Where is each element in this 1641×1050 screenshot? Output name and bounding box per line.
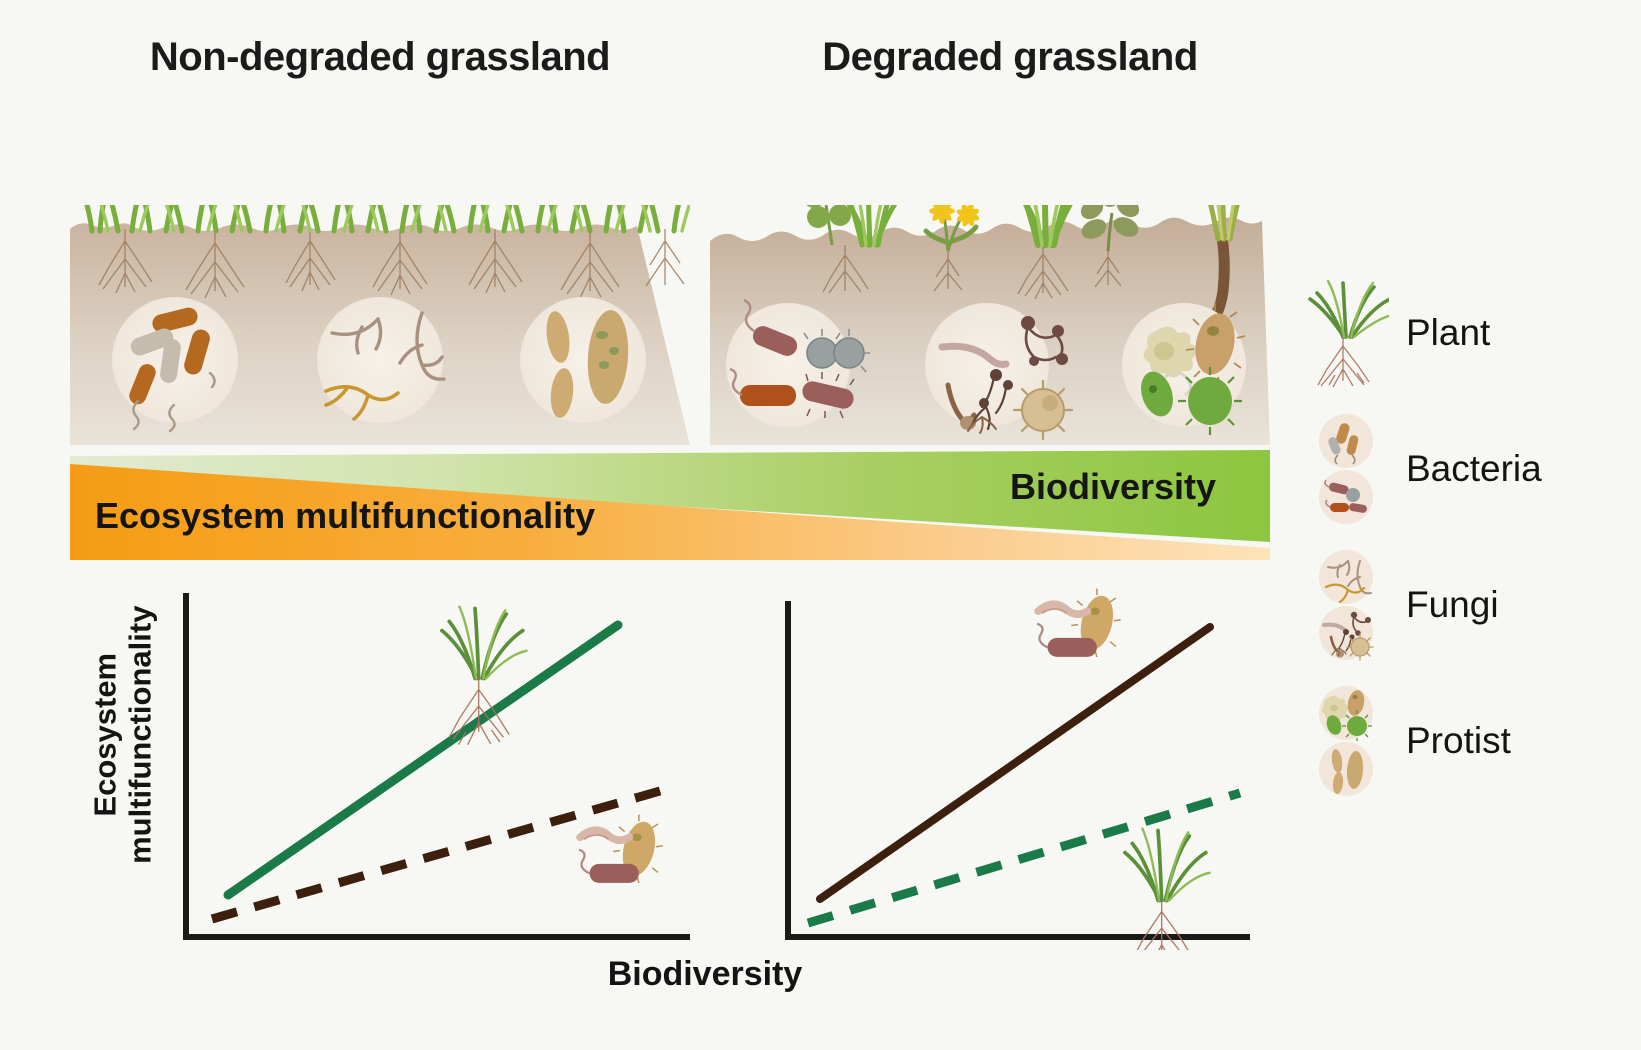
protist-circle-icon: [1318, 741, 1374, 797]
protist-circle-icon: [1318, 685, 1374, 741]
soil-panel-degraded: [710, 205, 1270, 445]
band-label-biodiversity: Biodiversity: [1010, 466, 1216, 508]
legend-item-protist: Protist: [1300, 673, 1635, 809]
legend-icon-group: [1300, 277, 1392, 389]
panel-title-non-degraded: Non-degraded grassland: [70, 35, 690, 80]
legend-label-fungi: Fungi: [1406, 584, 1499, 626]
bacteria-circle-icon: [1318, 469, 1374, 525]
fungi-circle-icon: [1318, 605, 1374, 661]
legend-item-bacteria: Bacteria: [1300, 401, 1635, 537]
chart-axes: [186, 593, 690, 937]
legend-label-protist: Protist: [1406, 720, 1511, 762]
chart-non-degraded-grassland: [150, 575, 710, 950]
legend-icon-group: [1300, 685, 1392, 797]
y-axis-label-line1: Ecosystem: [88, 570, 123, 900]
legend-item-plant: Plant: [1300, 265, 1635, 401]
chart-degraded-grassland: [760, 575, 1260, 950]
grass-plant-icon: [442, 607, 527, 745]
legend-icon-group: [1300, 413, 1392, 525]
legend-icon-group: [1300, 549, 1392, 661]
chart-x-axis-label: Biodiversity: [455, 955, 955, 994]
soil-panel-non-degraded: [70, 205, 690, 445]
microbe-cluster-icon: [1037, 589, 1121, 657]
legend-label-plant: Plant: [1406, 312, 1490, 354]
y-axis-label-line2: multifunctionality: [123, 570, 158, 900]
grass-plant-icon: [1303, 277, 1389, 389]
chart-y-axis-label: Ecosystem multifunctionality: [88, 570, 157, 900]
grass-plant-icon: [1125, 829, 1210, 950]
legend-label-bacteria: Bacteria: [1406, 448, 1542, 490]
soil-microbe-circle-protist: [520, 297, 646, 423]
legend-item-fungi: Fungi: [1300, 537, 1635, 673]
fungi-circle-icon: [1318, 549, 1374, 605]
bacteria-circle-icon: [1318, 413, 1374, 469]
band-label-multifunctionality: Ecosystem multifunctionality: [95, 495, 595, 537]
soil-microbe-circle-fungi: [317, 297, 444, 423]
panel-title-degraded: Degraded grassland: [740, 35, 1280, 80]
legend: Plant Bacteria: [1300, 265, 1635, 809]
microbe-cluster-icon: [579, 815, 663, 883]
